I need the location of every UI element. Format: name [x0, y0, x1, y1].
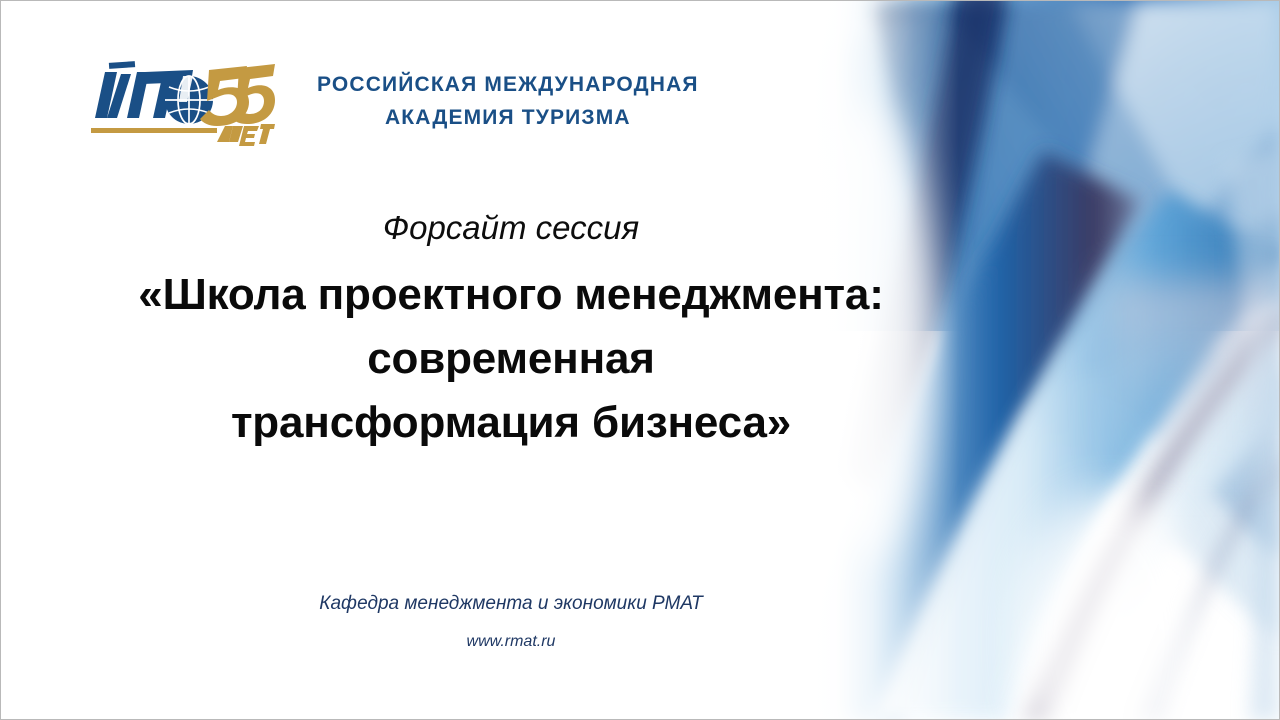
- academy-name: РОССИЙСКАЯ МЕЖДУНАРОДНАЯ АКАДЕМИЯ ТУРИЗМ…: [317, 69, 699, 134]
- logo-anniversary-number: [200, 64, 275, 126]
- logo-underline: [91, 128, 217, 133]
- presentation-slide: РОССИЙСКАЯ МЕЖДУНАРОДНАЯ АКАДЕМИЯ ТУРИЗМ…: [0, 0, 1280, 720]
- slide-title-line-3: трансформация бизнеса»: [41, 391, 981, 455]
- rmat-logo-icon: [87, 56, 275, 148]
- slide-footer: Кафедра менеджмента и экономики РМАТ www…: [41, 593, 981, 651]
- academy-name-line-2: АКАДЕМИЯ ТУРИЗМА: [317, 102, 699, 135]
- session-type-label: Форсайт сессия: [41, 209, 981, 247]
- slide-content: Форсайт сессия «Школа проектного менеджм…: [41, 209, 981, 456]
- brand-lockup: РОССИЙСКАЯ МЕЖДУНАРОДНАЯ АКАДЕМИЯ ТУРИЗМ…: [87, 56, 699, 148]
- academy-name-line-1: РОССИЙСКАЯ МЕЖДУНАРОДНАЯ: [317, 69, 699, 102]
- warm-haze-overlay: [1109, 281, 1279, 491]
- slide-title: «Школа проектного менеджмента: современн…: [41, 263, 981, 456]
- website-label[interactable]: www.rmat.ru: [41, 632, 981, 651]
- slide-title-line-1: «Школа проектного менеджмента:: [41, 263, 981, 327]
- department-label: Кафедра менеджмента и экономики РМАТ: [41, 593, 981, 616]
- logo-anniversary-word: [217, 124, 275, 146]
- slide-title-line-2: современная: [41, 327, 981, 391]
